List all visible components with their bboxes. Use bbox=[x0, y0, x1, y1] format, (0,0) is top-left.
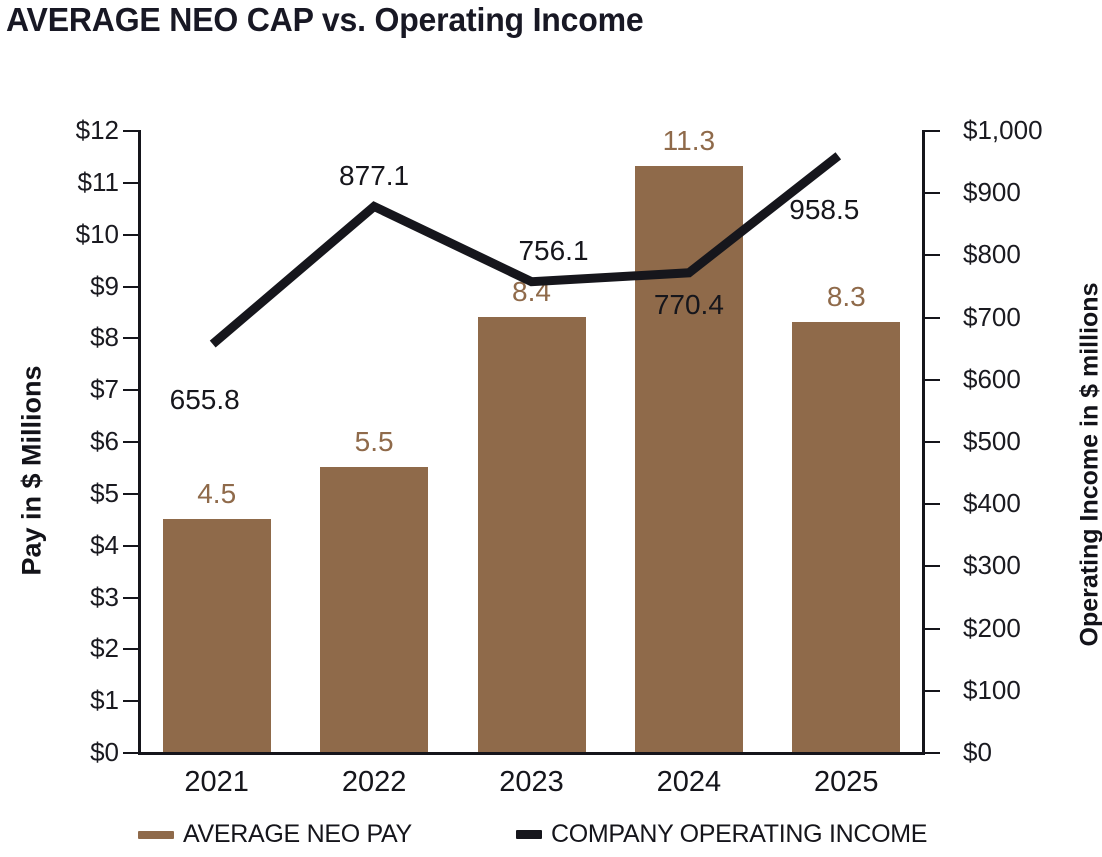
y-axis-left-tick-label: $3 bbox=[90, 584, 119, 610]
y-axis-left-tick bbox=[123, 182, 139, 184]
y-axis-right-tick-label: $1,000 bbox=[963, 117, 1043, 143]
y-axis-right-tick-label: $800 bbox=[963, 241, 1021, 267]
y-axis-left-tick-label: $6 bbox=[90, 428, 119, 454]
y-axis-left-tick bbox=[123, 130, 139, 132]
y-axis-right-title: Operating Income in $ millions bbox=[1076, 255, 1102, 675]
y-axis-left-tick bbox=[123, 648, 139, 650]
y-axis-left-tick bbox=[123, 545, 139, 547]
x-axis-label-2023: 2023 bbox=[462, 766, 602, 799]
y-axis-right-tick bbox=[924, 628, 940, 630]
line-value-label-2022: 877.1 bbox=[294, 162, 454, 190]
y-axis-left-title: Pay in $ Millions bbox=[17, 321, 48, 621]
y-axis-right-tick bbox=[924, 503, 940, 505]
y-axis-right-tick bbox=[924, 192, 940, 194]
x-axis-label-2022: 2022 bbox=[304, 766, 444, 799]
y-axis-left-tick-label: $1 bbox=[90, 687, 119, 713]
y-axis-left-tick bbox=[123, 441, 139, 443]
y-axis-right-tick bbox=[924, 752, 940, 754]
y-axis-right-tick bbox=[924, 317, 940, 319]
y-axis-left-tick bbox=[123, 493, 139, 495]
legend-label: COMPANY OPERATING INCOME bbox=[551, 820, 927, 849]
y-axis-right-tick bbox=[924, 690, 940, 692]
x-axis-label-2025: 2025 bbox=[776, 766, 916, 799]
legend-swatch-icon bbox=[138, 831, 174, 839]
y-axis-right-tick bbox=[924, 441, 940, 443]
plot-area: $0$1$2$3$4$5$6$7$8$9$10$11$12 $0$100$200… bbox=[138, 130, 925, 755]
y-axis-right-tick-label: $0 bbox=[963, 739, 992, 765]
legend-item-company-operating-income[interactable]: COMPANY OPERATING INCOME bbox=[516, 820, 927, 849]
page-title: AVERAGE NEO CAP vs. Operating Income bbox=[6, 1, 644, 39]
y-axis-left-tick-label: $7 bbox=[90, 376, 119, 402]
legend-item-average-neo-pay[interactable]: AVERAGE NEO PAY bbox=[138, 820, 412, 849]
y-axis-left-tick bbox=[123, 752, 139, 754]
y-axis-left-tick bbox=[123, 337, 139, 339]
line-value-label-2024: 770.4 bbox=[609, 291, 769, 319]
y-axis-left-tick-label: $4 bbox=[90, 532, 119, 558]
y-axis-right-tick bbox=[924, 379, 940, 381]
x-axis-label-2024: 2024 bbox=[619, 766, 759, 799]
line-value-label-2025: 958.5 bbox=[744, 196, 904, 224]
y-axis-right-tick bbox=[924, 565, 940, 567]
y-axis-right-tick-label: $400 bbox=[963, 490, 1021, 516]
y-axis-left-tick-label: $11 bbox=[78, 169, 119, 195]
y-axis-right-tick-label: $500 bbox=[963, 428, 1021, 454]
x-axis-label-2021: 2021 bbox=[147, 766, 287, 799]
y-axis-left-tick-label: $12 bbox=[76, 117, 119, 143]
legend-swatch-icon bbox=[516, 830, 542, 839]
y-axis-right-tick bbox=[924, 130, 940, 132]
y-axis-right-tick-label: $700 bbox=[963, 304, 1021, 330]
chart-legend: AVERAGE NEO PAYCOMPANY OPERATING INCOME bbox=[138, 820, 938, 854]
y-axis-left-tick-label: $9 bbox=[90, 273, 119, 299]
y-axis-right-tick-label: $600 bbox=[963, 366, 1021, 392]
y-axis-left-tick bbox=[123, 234, 139, 236]
y-axis-right-tick-label: $200 bbox=[963, 615, 1021, 641]
y-axis-left-tick-label: $8 bbox=[90, 324, 119, 350]
y-axis-right-tick-label: $100 bbox=[963, 677, 1021, 703]
line-value-label-2023: 756.1 bbox=[474, 237, 634, 265]
y-axis-left-tick-label: $0 bbox=[90, 739, 119, 765]
y-axis-left-tick-label: $10 bbox=[76, 221, 119, 247]
line-value-label-2021: 655.8 bbox=[125, 386, 285, 414]
y-axis-right-tick-label: $300 bbox=[963, 552, 1021, 578]
y-axis-left-tick bbox=[123, 700, 139, 702]
y-axis-right-tick bbox=[924, 254, 940, 256]
y-axis-left-tick bbox=[123, 286, 139, 288]
legend-label: AVERAGE NEO PAY bbox=[183, 820, 412, 849]
y-axis-left-tick-label: $5 bbox=[90, 480, 119, 506]
y-axis-left-tick-label: $2 bbox=[90, 635, 119, 661]
y-axis-right-tick-label: $900 bbox=[963, 179, 1021, 205]
y-axis-left-tick bbox=[123, 597, 139, 599]
